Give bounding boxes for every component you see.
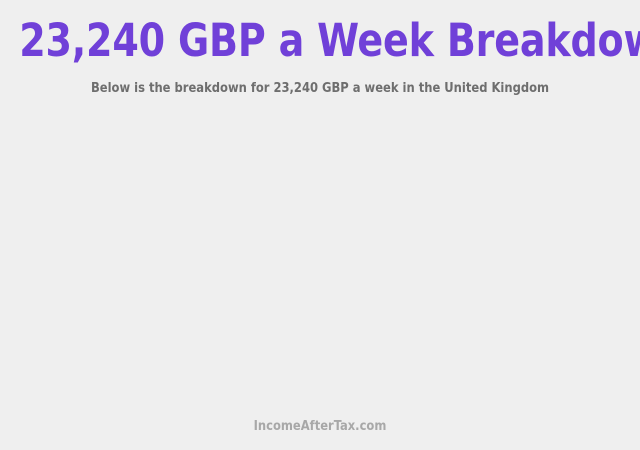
page-header: 23,240 GBP a Week Breakdown Below is the…: [0, 0, 640, 96]
page-subtitle: Below is the breakdown for 23,240 GBP a …: [16, 64, 624, 96]
breakdown-content-area: [0, 96, 640, 419]
page-title: 23,240 GBP a Week Breakdown: [19, 18, 621, 64]
site-watermark: IncomeAfterTax.com: [16, 419, 624, 434]
page-root: 23,240 GBP a Week Breakdown Below is the…: [0, 0, 640, 450]
page-footer: IncomeAfterTax.com: [0, 419, 640, 450]
